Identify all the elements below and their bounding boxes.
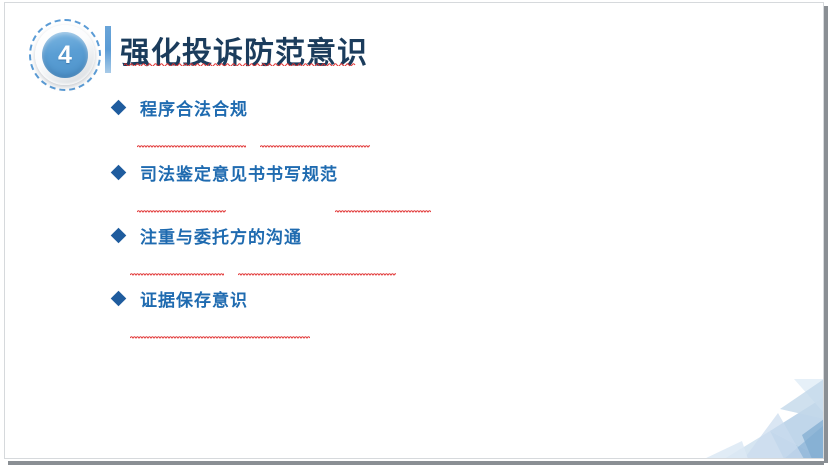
slide-right-shadow bbox=[824, 6, 828, 463]
decorative-polygon-corner bbox=[684, 379, 824, 459]
diamond-bullet-icon bbox=[111, 99, 127, 115]
list-item-heading-label: 注重与委托方的沟通 bbox=[140, 223, 302, 248]
spellcheck-squiggle-detail bbox=[130, 335, 310, 339]
list-item-detail-label: 调查材料质证、鉴定过程见证、收费合理性 bbox=[137, 125, 479, 144]
list-item-detail-label: 文字错误、用语不专业、格式不规范、盖章 bbox=[137, 190, 479, 209]
list-item-heading: 注重与委托方的沟通 bbox=[110, 222, 710, 248]
list-item-heading: 司法鉴定意见书书写规范 bbox=[110, 159, 710, 185]
list-item-detail-label: 录音、录像，本人签字 bbox=[130, 316, 310, 335]
list-item-heading-label: 司法鉴定意见书书写规范 bbox=[140, 160, 338, 185]
slide-canvas: 4 强化投诉防范意识 程序合法合规 调查材料质证、鉴定过程见证、收费合理性 司法… bbox=[0, 0, 830, 467]
title-accent-bar bbox=[105, 26, 111, 73]
list-item-heading-label: 程序合法合规 bbox=[140, 95, 248, 120]
diamond-bullet-icon bbox=[111, 290, 127, 306]
list-item-detail: 文字错误、用语不专业、格式不规范、盖章 bbox=[137, 185, 479, 215]
list-item-detail: 录音、录像，本人签字 bbox=[130, 311, 310, 341]
list-item-detail-label: 鉴定受理、鉴定材料的准备与补充、意见解释 bbox=[130, 253, 490, 272]
spellcheck-squiggle-detail bbox=[238, 272, 396, 276]
list-item-heading: 程序合法合规 bbox=[110, 94, 710, 120]
spellcheck-squiggle-detail bbox=[260, 144, 369, 148]
spellcheck-squiggle-detail bbox=[137, 209, 226, 213]
spellcheck-squiggle-title bbox=[124, 62, 356, 66]
bullet-list: 程序合法合规 调查材料质证、鉴定过程见证、收费合理性 司法鉴定意见书书写规范 文… bbox=[110, 94, 710, 341]
diamond-bullet-icon bbox=[111, 164, 127, 180]
spellcheck-squiggle-detail bbox=[130, 272, 224, 276]
badge-number-label: 4 bbox=[58, 43, 72, 68]
badge-inner-circle: 4 bbox=[42, 32, 88, 78]
list-item-detail: 调查材料质证、鉴定过程见证、收费合理性 bbox=[137, 120, 479, 150]
list-item-heading: 证据保存意识 bbox=[110, 285, 710, 311]
list-item-detail: 鉴定受理、鉴定材料的准备与补充、意见解释 bbox=[130, 248, 490, 278]
step-number-badge: 4 bbox=[27, 17, 107, 97]
slide-bottom-shadow bbox=[8, 461, 824, 465]
spellcheck-squiggle-detail bbox=[137, 144, 246, 148]
list-item-heading-label: 证据保存意识 bbox=[140, 286, 248, 311]
diamond-bullet-icon bbox=[111, 227, 127, 243]
spellcheck-squiggle-detail bbox=[335, 209, 431, 213]
